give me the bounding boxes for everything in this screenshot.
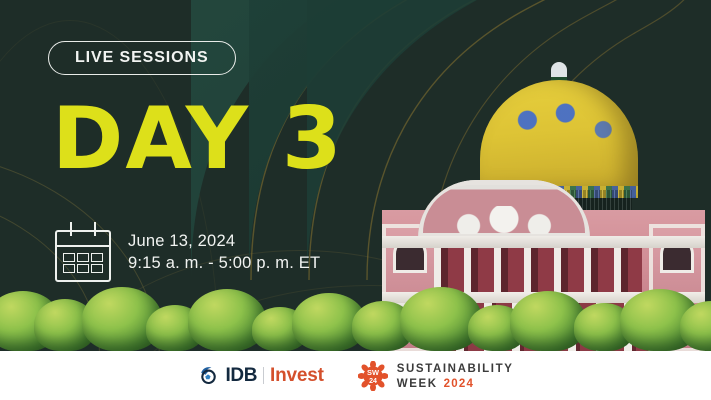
calendar-icon	[55, 222, 111, 282]
idb-invest-logo: IDB Invest	[198, 365, 324, 387]
event-time: 9:15 a. m. - 5:00 p. m. ET	[128, 252, 320, 274]
live-sessions-label: LIVE SESSIONS	[75, 49, 209, 67]
invest-wordmark: Invest	[270, 365, 324, 387]
live-sessions-badge: LIVE SESSIONS	[48, 41, 236, 75]
sw-flower-icon: SW 24	[358, 361, 388, 391]
logo-divider	[263, 367, 264, 384]
sustainability-week-year: 2024	[444, 378, 474, 390]
event-date: June 13, 2024	[128, 230, 320, 252]
idb-wordmark: IDB	[226, 365, 258, 387]
facade-pediment	[418, 180, 590, 238]
svg-text:24: 24	[369, 378, 377, 385]
footer-logo-bar: IDB Invest	[0, 351, 711, 400]
tree-line	[0, 279, 711, 351]
svg-text:SW: SW	[367, 368, 379, 377]
date-time-block: June 13, 2024 9:15 a. m. - 5:00 p. m. ET	[55, 222, 320, 282]
idb-globe-icon	[198, 365, 219, 386]
page-title: DAY 3	[52, 96, 344, 182]
sustainability-week-logo: SW 24 SUSTAINABILITY WEEK 2024	[358, 361, 514, 391]
sustainability-week-line1: SUSTAINABILITY	[397, 363, 514, 375]
event-banner: LIVE SESSIONS DAY 3 June 13, 2024 9:15 a…	[0, 0, 711, 400]
sustainability-week-line2: WEEK	[397, 378, 438, 390]
